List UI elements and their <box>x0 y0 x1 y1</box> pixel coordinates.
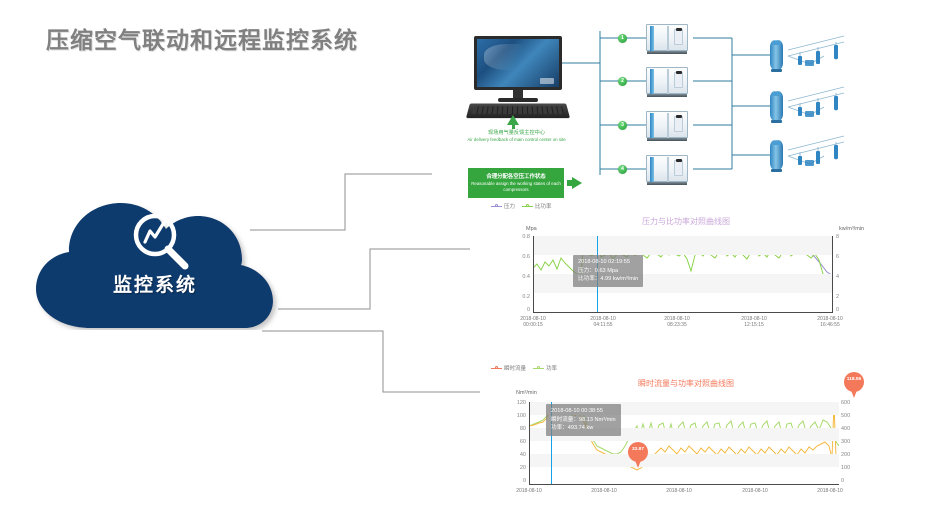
caption-en: Air delivery feedback of main control ce… <box>464 137 569 143</box>
node-badge-1[interactable]: 1 <box>618 34 627 43</box>
chart2-xtick: 2018-08-10 <box>499 488 559 494</box>
chart1-xtick: 2018-08-10 08:23:35 <box>647 316 707 329</box>
legend-label: 功率 <box>546 364 557 372</box>
legend-label: 比功率 <box>535 202 552 210</box>
xtick-time: 04:11:55 <box>593 322 612 328</box>
xtick-time: 00:00:15 <box>523 322 542 328</box>
xtick-date: 2018-08-10 <box>741 316 767 322</box>
compressor-seam <box>667 113 669 138</box>
xtick-date: 2018-08-10 <box>520 316 546 322</box>
tank-base <box>771 169 782 172</box>
tooltip-line-2: 比功率：4.99 kw/m³/min <box>578 275 638 284</box>
chart1-title: 压力与比功率对照曲线图 <box>486 216 886 227</box>
feedback-arrow-stem <box>512 124 515 129</box>
chart2-y2tick: 300 <box>841 439 857 445</box>
magnifier-chart-icon <box>125 210 195 272</box>
chart2-title: 瞬时流量与功率对照曲线图 <box>486 378 886 389</box>
chart2-ytick: 40 <box>500 452 526 458</box>
compressor-body <box>646 111 688 138</box>
legend-item-specific-power[interactable]: 比功率 <box>522 202 552 210</box>
keyboard-keys <box>472 106 564 114</box>
marker-value: 33.87 <box>628 447 648 452</box>
tooltip-line-2: 功率：493.74 kw <box>551 424 616 433</box>
compressor-panel <box>674 72 683 88</box>
compressor-body <box>646 67 688 94</box>
compressor-body <box>646 24 688 51</box>
monitor-screen <box>474 36 562 90</box>
air-tank <box>770 140 783 170</box>
cloud-label: 监控系统 <box>20 270 290 297</box>
chart2-y-left-unit: Nm³/min <box>516 390 537 396</box>
legend-item-power[interactable]: 功率 <box>533 364 557 372</box>
monitor-base <box>498 98 538 102</box>
chart1-xtick: 2018-08-10 04:11:55 <box>573 316 633 329</box>
tank-top <box>772 92 781 96</box>
compressor-foot <box>647 182 687 185</box>
chart2-y2tick: 0 <box>841 478 857 484</box>
chart1-xtick: 2018-08-10 00:00:15 <box>503 316 563 329</box>
xtick-date: 2018-08-10 <box>817 316 843 322</box>
legend-marker-icon <box>491 368 502 369</box>
chart1-xtick: 2018-08-10 16:46:55 <box>800 316 860 329</box>
chart2-xtick: 2018-08-10 <box>649 488 709 494</box>
tooltip-line-1: 压力：0.63 Mpa <box>578 267 638 276</box>
chart2-y2tick: 500 <box>841 413 857 419</box>
air-tank-group <box>770 87 862 127</box>
chart1-ytick: 0.8 <box>504 234 530 240</box>
node-badge-3[interactable]: 3 <box>618 121 627 130</box>
legend-label: 瞬时流量 <box>504 364 526 372</box>
screen-logo <box>540 78 554 84</box>
chart1-y-axis <box>533 236 534 313</box>
chart1-y2-axis <box>832 236 833 313</box>
compressor-stripe <box>650 157 654 182</box>
chart2-legend[interactable]: 瞬时流量 功率 <box>491 364 557 372</box>
chart2-y2tick: 400 <box>841 426 857 432</box>
compressor-display <box>676 28 682 31</box>
compressor-foot <box>647 51 687 54</box>
chart2-y2tick: 200 <box>841 452 857 458</box>
flow-power-chart[interactable]: 瞬时流量 功率 瞬时流量与功率对照曲线图 Nm³/min 120 100 80 … <box>486 364 886 509</box>
compressor-foot <box>647 138 687 141</box>
chart2-band <box>529 454 839 467</box>
compressor-stripe <box>650 69 654 94</box>
xtick-time: 08:23:35 <box>667 322 686 328</box>
chart1-tooltip: 2018-08-10 02:19:55 压力：0.63 Mpa 比功率：4.99… <box>573 255 643 287</box>
marker-value: 118.55 <box>844 377 864 382</box>
chart2-ytick: 120 <box>500 400 526 406</box>
chart1-xtick: 2018-08-10 12:15:15 <box>724 316 784 329</box>
compressor-display <box>676 159 682 162</box>
chart1-ytick: 0.2 <box>504 294 530 300</box>
control-center-caption: 现场用气量反馈主控中心 Air delivery feedback of mai… <box>464 130 569 142</box>
chart2-y-axis <box>529 402 530 485</box>
xtick-time: 16:46:55 <box>820 322 839 328</box>
chart1-band <box>533 236 833 255</box>
chart1-x-axis <box>533 312 833 313</box>
tank-base <box>771 120 782 123</box>
chart2-y2tick: 100 <box>841 465 857 471</box>
chart2-ytick: 80 <box>500 426 526 432</box>
callout-arrow-icon <box>572 177 582 189</box>
tank-top <box>772 41 781 45</box>
chart1-ytick: 0 <box>504 307 530 313</box>
air-tank-group <box>770 136 862 176</box>
tank-top <box>772 141 781 145</box>
chart1-y2tick: 8 <box>836 234 846 240</box>
chart2-xtick: 2018-08-10 <box>574 488 634 494</box>
chart2-tooltip: 2018-08-10 00:38:55 瞬时流量：98.13 Nm³/min 功… <box>546 404 621 436</box>
legend-item-flow[interactable]: 瞬时流量 <box>491 364 526 372</box>
xtick-time: 12:15:15 <box>744 322 763 328</box>
chart2-ytick: 60 <box>500 439 526 445</box>
chart1-legend[interactable]: 压力 比功率 <box>491 202 552 210</box>
compressor-unit <box>646 111 688 141</box>
callout-en: Reasonable assign the working states of … <box>468 181 564 192</box>
chart2-xtick: 2018-08-10 <box>725 488 785 494</box>
chart2-max-marker[interactable]: 118.55 <box>844 372 864 398</box>
compressor-display <box>676 115 682 118</box>
system-topology-diagram: 现场用气量反馈主控中心 Air delivery feedback of mai… <box>432 20 945 200</box>
air-tank <box>770 91 783 121</box>
allocation-callout: 合理分配各空压工作状态 Reasonable assign the workin… <box>468 168 564 198</box>
air-tank-group <box>770 36 862 76</box>
tooltip-timestamp: 2018-08-10 00:38:55 <box>551 407 616 416</box>
tank-base <box>771 69 782 72</box>
legend-marker-icon <box>491 206 502 207</box>
chart2-x-axis <box>529 484 839 485</box>
monitoring-cloud[interactable]: 监控系统 <box>20 185 290 330</box>
chart1-ytick: 0.6 <box>504 254 530 260</box>
chart1-y2tick: 6 <box>836 254 846 260</box>
callout-cn: 合理分配各空压工作状态 <box>468 174 564 181</box>
chart2-xtick: 2018-08-10 <box>800 488 860 494</box>
legend-marker-icon <box>522 206 533 207</box>
xtick-date: 2018-08-10 <box>664 316 690 322</box>
compressor-unit <box>646 155 688 185</box>
slide-root: 压缩空气联动和远程监控系统 监控系统 <box>0 0 945 529</box>
chart2-ytick: 20 <box>500 465 526 471</box>
node-badge-4[interactable]: 4 <box>618 165 627 174</box>
air-tank <box>770 40 783 70</box>
chart1-y2tick: 4 <box>836 274 846 280</box>
legend-label: 压力 <box>504 202 515 210</box>
legend-marker-icon <box>533 368 544 369</box>
compressor-panel <box>674 116 683 132</box>
chart2-ytick: 0 <box>500 478 526 484</box>
chart2-ytick: 100 <box>500 413 526 419</box>
chart2-y2tick: 600 <box>841 400 857 406</box>
chart2-min-marker[interactable]: 33.87 <box>628 442 648 468</box>
chart1-y2tick: 0 <box>836 307 846 313</box>
chart1-y-right-unit: kw/m³/min <box>839 226 864 232</box>
tooltip-timestamp: 2018-08-10 02:19:55 <box>578 258 638 267</box>
pressure-specific-power-chart[interactable]: 压力 比功率 压力与比功率对照曲线图 Mpa kw/m³/min 0.8 0.6… <box>486 202 886 332</box>
compressor-display <box>676 71 682 74</box>
compressor-seam <box>667 26 669 51</box>
legend-item-pressure[interactable]: 压力 <box>491 202 515 210</box>
compressor-foot <box>647 94 687 97</box>
compressor-stripe <box>650 113 654 138</box>
compressor-panel <box>674 29 683 45</box>
chart1-y2tick: 2 <box>836 294 846 300</box>
xtick-date: 2018-08-10 <box>590 316 616 322</box>
compressor-unit <box>646 67 688 97</box>
control-center-monitor <box>468 36 568 116</box>
chart1-ytick: 0.4 <box>504 274 530 280</box>
node-badge-2[interactable]: 2 <box>618 77 627 86</box>
compressor-seam <box>667 69 669 94</box>
chart1-y-left-unit: Mpa <box>526 226 537 232</box>
compressor-body <box>646 155 688 182</box>
compressor-stripe <box>650 26 654 51</box>
compressor-seam <box>667 157 669 182</box>
tooltip-line-1: 瞬时流量：98.13 Nm³/min <box>551 416 616 425</box>
compressor-panel <box>674 160 683 176</box>
compressor-unit <box>646 24 688 54</box>
